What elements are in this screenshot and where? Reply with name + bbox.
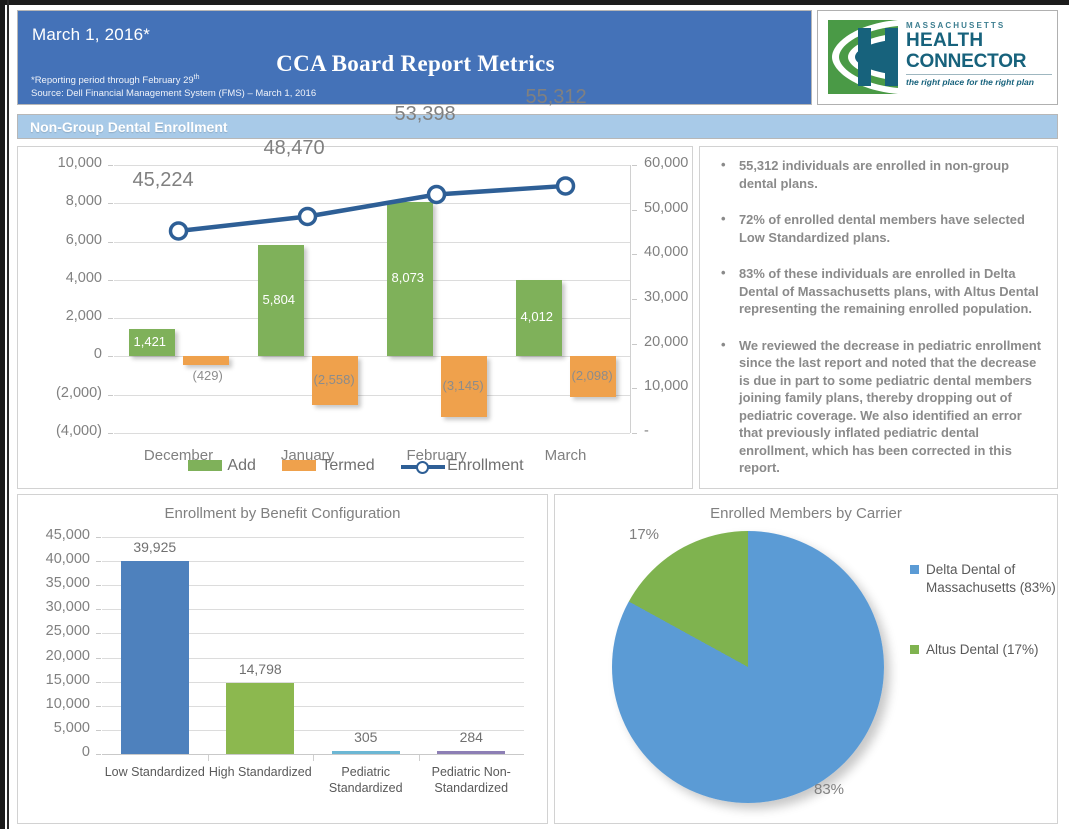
axis-tick bbox=[108, 203, 113, 204]
gridline bbox=[114, 433, 630, 434]
axis-tick bbox=[96, 706, 101, 707]
left-axis-tick-label: 2,000 bbox=[66, 308, 102, 324]
enrollment-data-point bbox=[429, 186, 445, 202]
bench-bar-value-label: 14,798 bbox=[210, 661, 310, 677]
left-axis-tick-label: 6,000 bbox=[66, 232, 102, 248]
left-axis-tick-label: (4,000) bbox=[56, 423, 102, 439]
health-connector-logo: MASSACHUSETTS HEALTH CONNECTOR the right… bbox=[817, 10, 1058, 105]
axis-tick bbox=[632, 254, 637, 255]
enrollment-data-point bbox=[558, 178, 574, 194]
page-edge-left bbox=[0, 0, 5, 829]
top-chart-plot-area: 1,421(429)5,804(2,558)8,073(3,145)4,012(… bbox=[114, 165, 630, 433]
right-axis-spine bbox=[630, 165, 631, 433]
legend-swatch-termed bbox=[282, 460, 316, 471]
bench-bar bbox=[121, 561, 189, 754]
bench-category-label: Pediatric Standardized bbox=[309, 764, 423, 796]
enrollment-by-benefit-configuration-chart: Enrollment by Benefit Configuration 45,0… bbox=[17, 494, 548, 824]
axis-tick bbox=[108, 165, 113, 166]
axis-tick bbox=[208, 754, 209, 761]
axis-tick bbox=[96, 585, 101, 586]
enrollment-value-label: 48,470 bbox=[264, 137, 325, 160]
left-axis-tick-label: 4,000 bbox=[66, 270, 102, 286]
bullet-dot: • bbox=[721, 264, 726, 282]
commentary-bullet-text: 83% of these individuals are enrolled in… bbox=[739, 266, 1039, 316]
commentary-bullet: •72% of enrolled dental members have sel… bbox=[714, 211, 1046, 246]
bullet-dot: • bbox=[721, 156, 726, 174]
bullet-dot: • bbox=[721, 336, 726, 354]
commentary-bullet: •We reviewed the decrease in pediatric e… bbox=[714, 337, 1046, 477]
commentary-bullet-text: 72% of enrolled dental members have sele… bbox=[739, 212, 1025, 245]
enrolled-members-by-carrier-chart: Enrolled Members by Carrier 17% 83% Delt… bbox=[554, 494, 1058, 824]
bench-y-tick-label: 35,000 bbox=[46, 575, 90, 591]
enrollment-value-label: 53,398 bbox=[395, 103, 456, 126]
axis-tick bbox=[108, 433, 113, 434]
pie-slice-label-altus: 17% bbox=[629, 526, 659, 543]
axis-tick bbox=[632, 388, 637, 389]
pie-chart-title: Enrolled Members by Carrier bbox=[555, 505, 1057, 522]
axis-tick bbox=[96, 633, 101, 634]
left-axis-tick-label: 0 bbox=[94, 346, 102, 362]
pie-legend-label-delta: Delta Dental of Massachusetts (83%) bbox=[926, 562, 1056, 595]
bench-y-tick-label: 30,000 bbox=[46, 599, 90, 615]
non-group-dental-enrollment-chart: 10,0008,0006,0004,0002,0000(2,000)(4,000… bbox=[17, 146, 693, 489]
right-axis-tick-label: - bbox=[644, 423, 649, 439]
bench-category-label: High Standardized bbox=[204, 764, 318, 780]
section-header-label: Non-Group Dental Enrollment bbox=[30, 119, 228, 135]
bench-y-tick-label: 10,000 bbox=[46, 696, 90, 712]
gridline bbox=[102, 537, 524, 538]
bullet-dot: • bbox=[721, 210, 726, 228]
right-axis-tick-label: 50,000 bbox=[644, 200, 688, 216]
bench-y-tick-label: 45,000 bbox=[46, 527, 90, 543]
axis-tick bbox=[96, 754, 101, 755]
left-axis-tick-label: (2,000) bbox=[56, 385, 102, 401]
report-date: March 1, 2016* bbox=[32, 25, 150, 45]
enrollment-data-point bbox=[171, 223, 187, 239]
footnote-source: Source: Dell Financial Management System… bbox=[31, 87, 316, 100]
axis-tick bbox=[632, 344, 637, 345]
pie-legend-item-delta: Delta Dental of Massachusetts (83%) bbox=[910, 561, 1060, 597]
pie-legend-label-altus: Altus Dental (17%) bbox=[926, 642, 1039, 657]
bench-plot-area: 39,92514,798305284 bbox=[102, 537, 524, 754]
pie-legend-item-altus: Altus Dental (17%) bbox=[910, 641, 1060, 659]
logo-tagline: the right place for the right plan bbox=[906, 77, 1054, 87]
left-axis-tick-label: 10,000 bbox=[58, 155, 102, 171]
logo-word-health: HEALTH bbox=[906, 30, 1054, 51]
legend-item-termed: Termed bbox=[282, 457, 374, 475]
logo-divider bbox=[906, 74, 1052, 75]
logo-wordmark: MASSACHUSETTS HEALTH CONNECTOR the right… bbox=[906, 21, 1054, 87]
axis-tick bbox=[108, 242, 113, 243]
right-axis-tick-label: 60,000 bbox=[644, 155, 688, 171]
commentary-bullet: •83% of these individuals are enrolled i… bbox=[714, 265, 1046, 318]
right-axis-tick-label: 10,000 bbox=[644, 378, 688, 394]
pie-legend: Delta Dental of Massachusetts (83%) Altu… bbox=[910, 561, 1060, 703]
axis-tick bbox=[96, 537, 101, 538]
bench-y-tick-label: 15,000 bbox=[46, 672, 90, 688]
bench-y-tick-label: 20,000 bbox=[46, 648, 90, 664]
header-banner: March 1, 2016* CCA Board Report Metrics … bbox=[17, 10, 812, 105]
bench-bar-value-label: 305 bbox=[316, 729, 416, 745]
section-header-band: Non-Group Dental Enrollment bbox=[17, 114, 1058, 139]
pie-graphic bbox=[612, 531, 884, 803]
commentary-bullet: •55,312 individuals are enrolled in non-… bbox=[714, 157, 1046, 192]
commentary-bullet-text: We reviewed the decrease in pediatric en… bbox=[739, 338, 1041, 476]
axis-tick bbox=[632, 165, 637, 166]
axis-tick bbox=[96, 730, 101, 731]
top-chart-legend: Add Termed Enrollment bbox=[18, 457, 694, 475]
connector-h-icon bbox=[828, 20, 898, 94]
axis-tick bbox=[96, 561, 101, 562]
right-axis-tick-label: 20,000 bbox=[644, 334, 688, 350]
bench-bar-value-label: 39,925 bbox=[105, 539, 205, 555]
pie-legend-swatch-altus bbox=[910, 645, 919, 654]
report-page: March 1, 2016* CCA Board Report Metrics … bbox=[9, 6, 1064, 826]
enrollment-line bbox=[114, 165, 630, 433]
axis-tick bbox=[108, 318, 113, 319]
bench-bar bbox=[226, 683, 294, 754]
axis-tick bbox=[96, 682, 101, 683]
logo-eyebrow: MASSACHUSETTS bbox=[906, 21, 1054, 30]
footnote-reporting-period: *Reporting period through February 29th bbox=[31, 71, 316, 87]
bench-category-label: Low Standardized bbox=[98, 764, 212, 780]
legend-swatch-add bbox=[188, 460, 222, 471]
axis-tick bbox=[108, 280, 113, 281]
enrollment-value-label: 55,312 bbox=[526, 86, 587, 109]
pie-slice-label-delta: 83% bbox=[814, 781, 844, 798]
axis-tick bbox=[632, 299, 637, 300]
legend-swatch-enrollment bbox=[401, 459, 445, 473]
right-axis-tick-label: 40,000 bbox=[644, 244, 688, 260]
pie-legend-swatch-delta bbox=[910, 565, 919, 574]
header-footnotes: *Reporting period through February 29th … bbox=[31, 71, 316, 100]
right-axis-tick-label: 30,000 bbox=[644, 289, 688, 305]
bench-category-label: Pediatric Non-Standardized bbox=[415, 764, 529, 796]
bench-bar-value-label: 284 bbox=[421, 729, 521, 745]
bench-chart-title: Enrollment by Benefit Configuration bbox=[18, 505, 547, 522]
legend-item-enrollment: Enrollment bbox=[401, 457, 523, 475]
logo-word-connector: CONNECTOR bbox=[906, 51, 1054, 72]
page-edge-top bbox=[0, 0, 1069, 5]
legend-label-termed: Termed bbox=[321, 457, 374, 474]
bench-y-tick-label: 25,000 bbox=[46, 623, 90, 639]
axis-tick bbox=[108, 395, 113, 396]
bench-y-tick-label: 40,000 bbox=[46, 551, 90, 567]
bench-y-tick-label: 0 bbox=[82, 744, 90, 760]
enrollment-data-point bbox=[300, 209, 316, 225]
bench-y-tick-label: 5,000 bbox=[54, 720, 90, 736]
commentary-bullet-text: 55,312 individuals are enrolled in non-g… bbox=[739, 158, 1009, 191]
commentary-panel: •55,312 individuals are enrolled in non-… bbox=[699, 146, 1058, 489]
axis-tick bbox=[419, 754, 420, 761]
left-axis-tick-label: 8,000 bbox=[66, 193, 102, 209]
commentary-bullet-list: •55,312 individuals are enrolled in non-… bbox=[714, 157, 1046, 496]
bench-baseline bbox=[102, 754, 524, 755]
enrollment-value-label: 45,224 bbox=[133, 169, 194, 192]
legend-label-enrollment: Enrollment bbox=[447, 457, 523, 474]
axis-tick bbox=[632, 210, 637, 211]
axis-tick bbox=[108, 356, 113, 357]
axis-tick bbox=[96, 658, 101, 659]
axis-tick bbox=[313, 754, 314, 761]
legend-item-add: Add bbox=[188, 457, 255, 475]
axis-tick bbox=[96, 609, 101, 610]
axis-tick bbox=[632, 433, 637, 434]
legend-label-add: Add bbox=[227, 457, 255, 474]
